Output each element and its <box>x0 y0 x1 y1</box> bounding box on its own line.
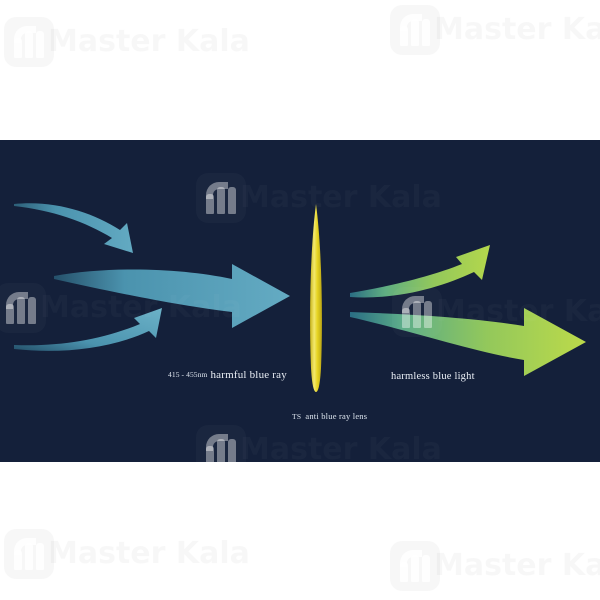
logo-bar <box>36 543 44 570</box>
green-light-arrow-top <box>350 245 490 297</box>
logo-hook <box>400 550 422 567</box>
blue-ray-arrow-middle <box>54 264 290 328</box>
logo-bar <box>14 550 22 570</box>
blue-ray-arrow-bottom <box>14 308 162 351</box>
logo-bar <box>400 26 408 46</box>
illustration-panel: 415 - 455nmharmful blue ray harmless blu… <box>0 140 600 462</box>
master-kala-logo-icon <box>390 5 440 55</box>
logo-bar <box>422 555 430 582</box>
logo-bar <box>411 19 419 46</box>
master-kala-logo-icon <box>390 541 440 591</box>
green-light-arrow-bottom <box>350 308 586 376</box>
watermark-tile: Master Kala <box>390 4 595 56</box>
watermark-text: Master Kala <box>48 539 250 569</box>
watermark-text: Master Kala <box>434 15 600 45</box>
watermark-text: Master Kala <box>48 27 250 57</box>
logo-bar <box>25 543 33 570</box>
blue-light-diagram <box>0 140 600 462</box>
anti-blue-ray-lens-shape <box>310 204 322 392</box>
logo-bar <box>400 562 408 582</box>
master-kala-logo-icon <box>4 17 54 67</box>
blue-ray-arrow-top <box>14 203 133 253</box>
logo-bar <box>25 31 33 58</box>
watermark-tile: Master Kala <box>4 16 209 68</box>
watermark-tile: Master Kala <box>390 540 595 592</box>
logo-bar <box>14 38 22 58</box>
watermark-text: Master Kala <box>434 551 600 581</box>
logo-bar <box>411 555 419 582</box>
screenshot-canvas: 415 - 455nmharmful blue ray harmless blu… <box>0 0 600 600</box>
logo-hook <box>14 26 36 43</box>
watermark-tile: Master Kala <box>4 528 209 580</box>
logo-hook <box>400 14 422 31</box>
logo-bar <box>422 19 430 46</box>
master-kala-logo-icon <box>4 529 54 579</box>
logo-hook <box>14 538 36 555</box>
logo-bar <box>36 31 44 58</box>
